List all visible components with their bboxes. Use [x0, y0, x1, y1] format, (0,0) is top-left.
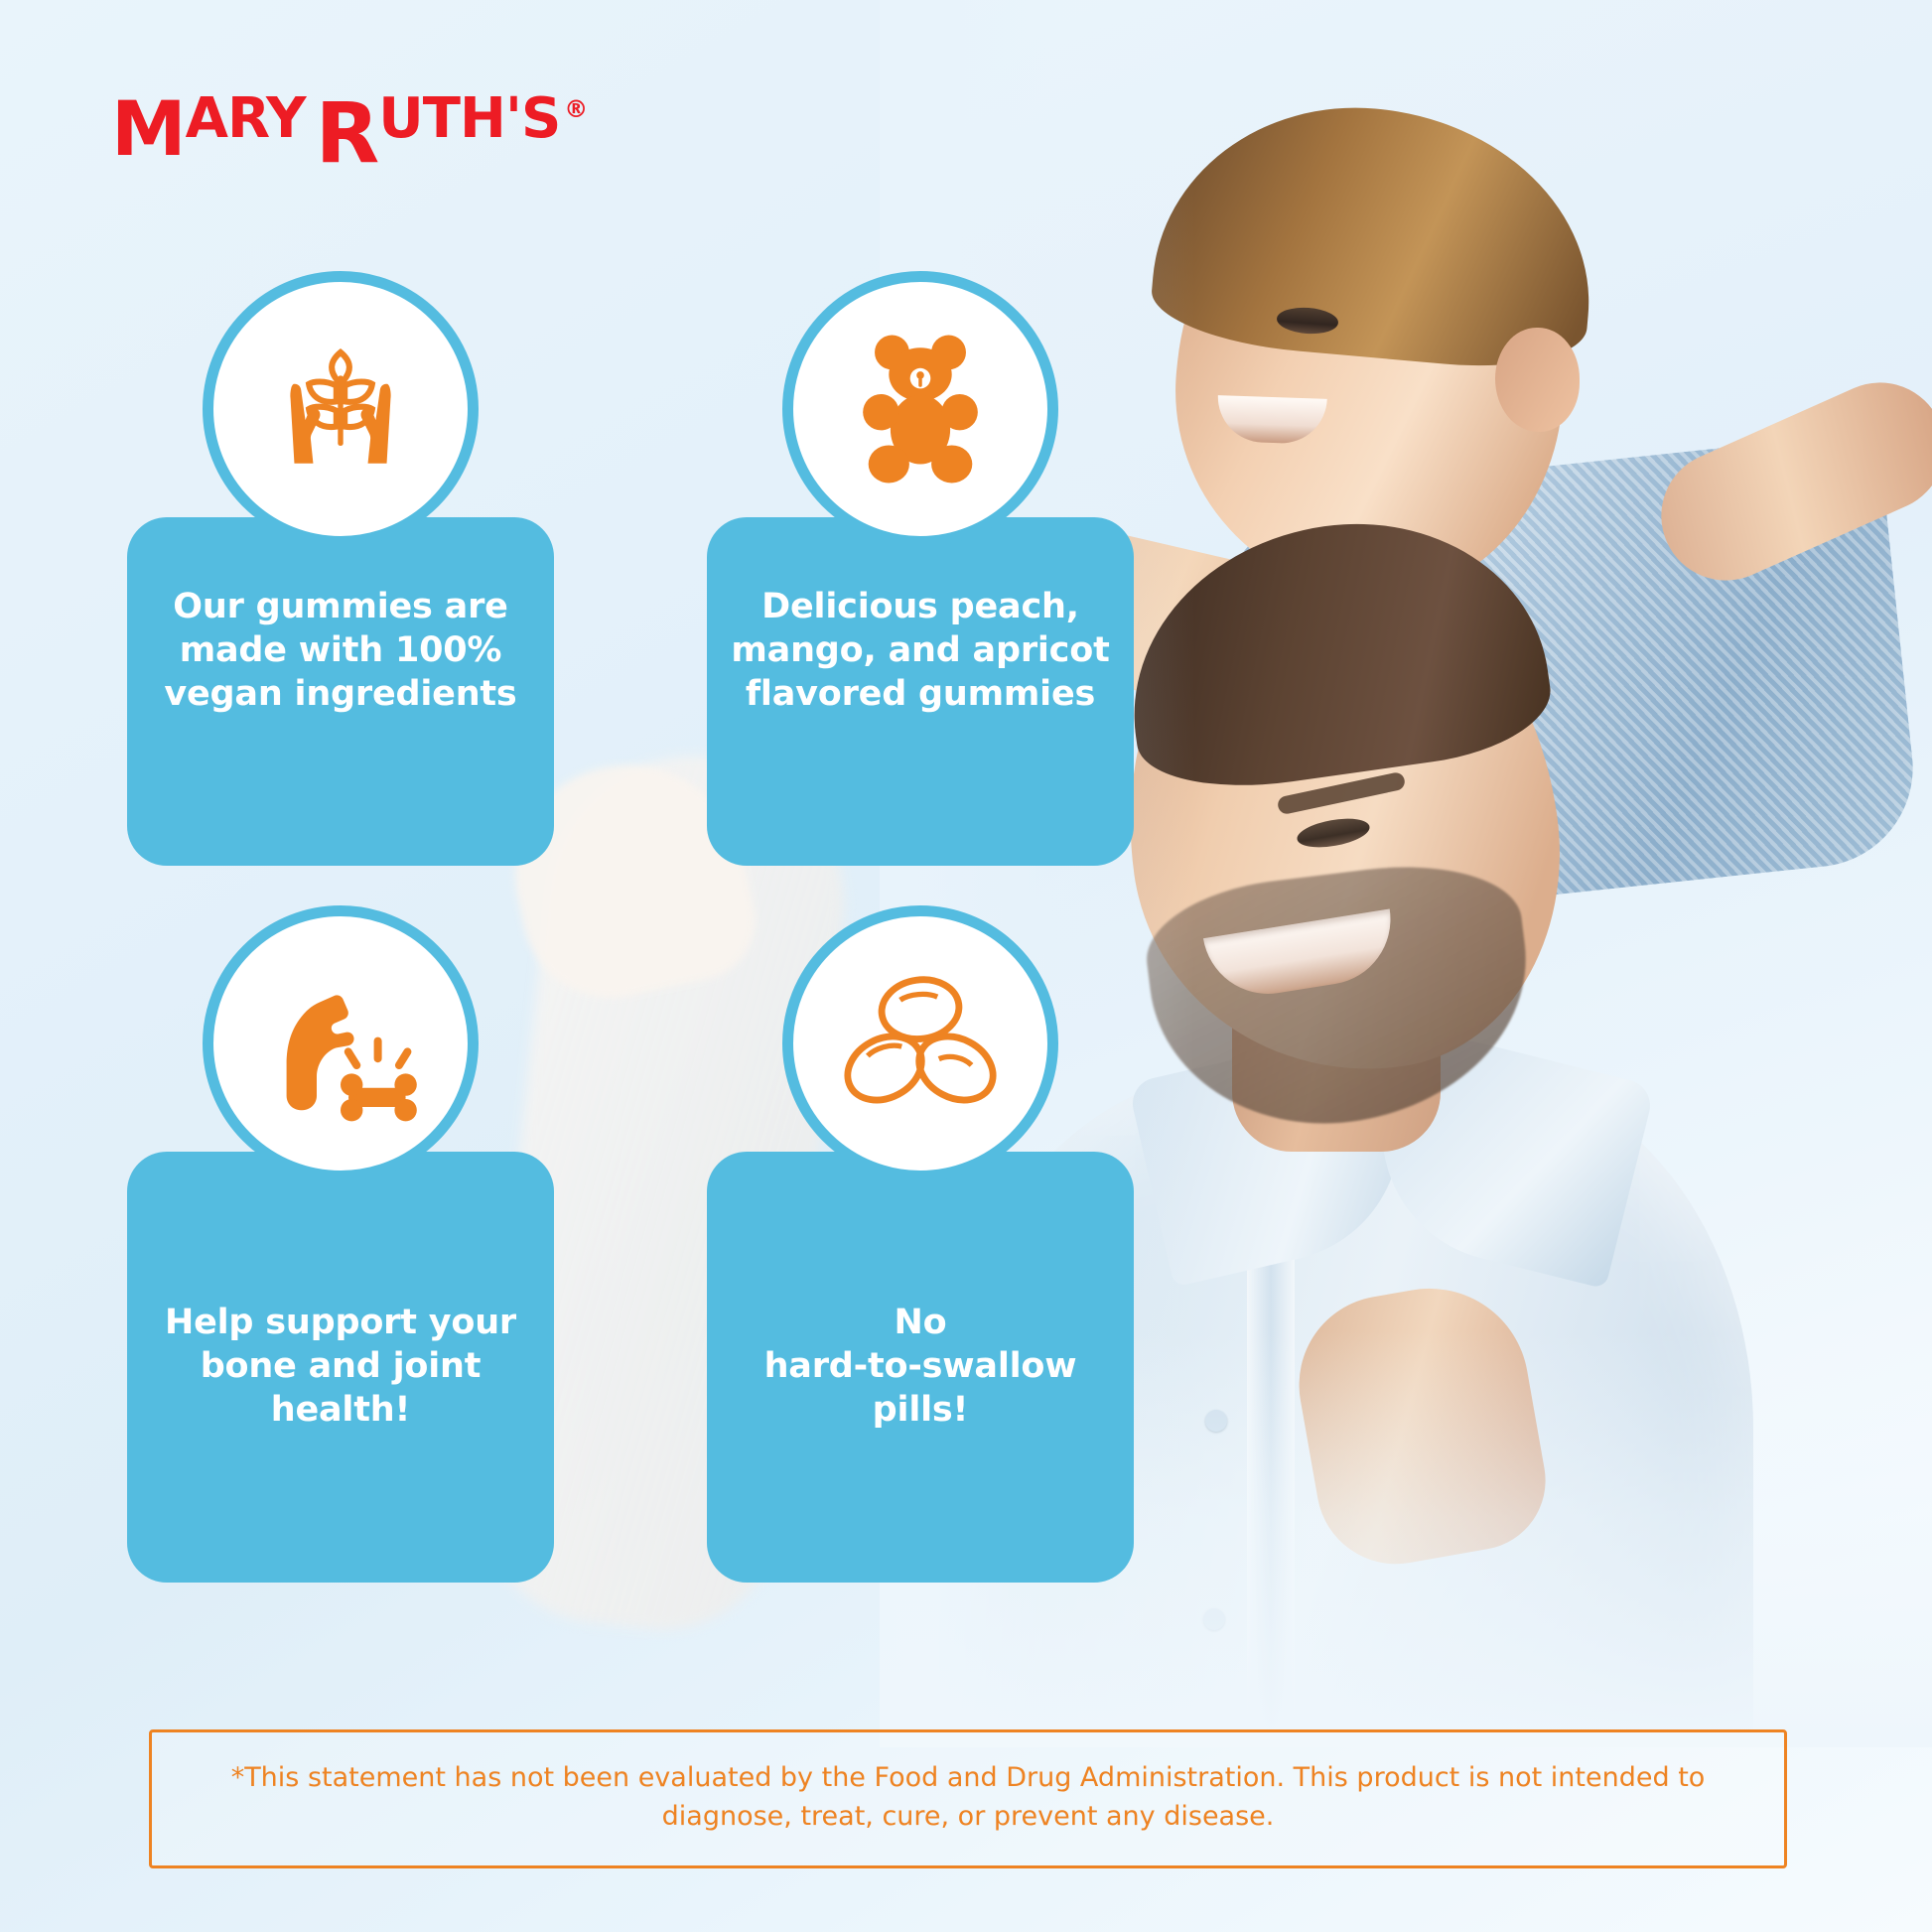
registered-trademark-icon: ®: [564, 97, 587, 121]
gummy-bear-icon: [841, 326, 1000, 492]
gummy-pills-icon: [835, 969, 1006, 1118]
icon-circle: [782, 271, 1058, 547]
icon-circle: [782, 905, 1058, 1181]
logo-letters-uths: UTH'S: [378, 91, 560, 147]
icon-circle: [203, 905, 479, 1181]
feature-card-caption: Delicious peach, mango, and apricot flav…: [707, 517, 1134, 716]
feature-card-caption: Help support your bone and joint health!: [127, 1152, 554, 1432]
hands-holding-wheat-icon: [257, 326, 424, 492]
maryruths-logo[interactable]: MARYRUTH'S®: [111, 91, 587, 175]
logo-letters-ary: ARY: [186, 91, 306, 147]
logo-letter-m: M: [111, 91, 186, 167]
icon-circle: [203, 271, 479, 547]
product-feature-graphic: MARYRUTH'S®: [0, 0, 1932, 1932]
logo-letter-r: R: [316, 91, 379, 175]
feature-card-no-pills[interactable]: No hard-to-swallow pills!: [707, 1152, 1134, 1583]
fda-disclaimer: *This statement has not been evaluated b…: [149, 1729, 1787, 1868]
feature-card-caption: No hard-to-swallow pills!: [707, 1152, 1134, 1432]
feature-card-caption: Our gummies are made with 100% vegan ing…: [127, 517, 554, 716]
feature-card-bone-joint-health[interactable]: Help support your bone and joint health!: [127, 1152, 554, 1583]
feature-card-flavors[interactable]: Delicious peach, mango, and apricot flav…: [707, 517, 1134, 866]
flexing-arm-bone-icon: [253, 960, 428, 1127]
feature-card-vegan-ingredients[interactable]: Our gummies are made with 100% vegan ing…: [127, 517, 554, 866]
